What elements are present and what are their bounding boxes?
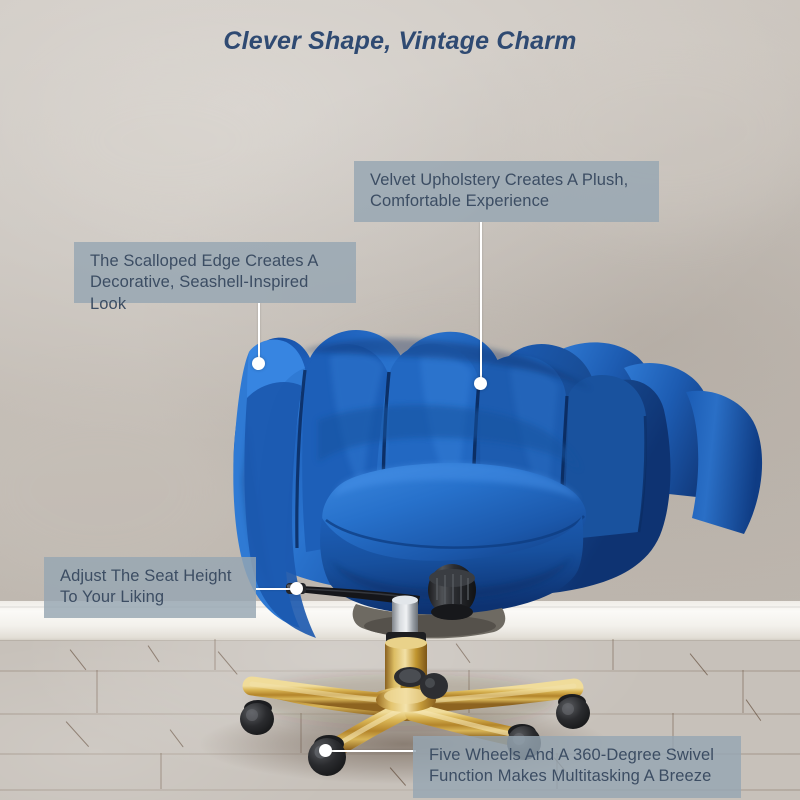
callout-velvet-upholstery: Velvet Upholstery Creates A Plush, Comfo…: [354, 161, 659, 222]
leader-line-upholstery: [480, 222, 482, 385]
leader-dot-scalloped-edge: [252, 357, 265, 370]
leader-dot-seat-height: [290, 582, 303, 595]
leader-dot-five-wheels: [319, 744, 332, 757]
caster-rear-right: [556, 694, 590, 729]
caster-rear-left: [240, 700, 274, 735]
leader-dot-upholstery: [474, 377, 487, 390]
office-chair-illustration: [0, 0, 800, 800]
page-title: Clever Shape, Vintage Charm: [0, 27, 800, 56]
callout-seat-height: Adjust The Seat Height To Your Liking: [44, 557, 256, 618]
leader-line-five-wheels: [326, 750, 416, 752]
callout-scalloped-edge: The Scalloped Edge Creates A Decorative,…: [74, 242, 356, 303]
product-infographic: Clever Shape, Vintage Charm Velvet Uphol…: [0, 0, 800, 800]
leader-line-scalloped-edge: [258, 303, 260, 365]
caster-rear-center: [420, 673, 448, 699]
callout-five-wheels: Five Wheels And A 360-Degree Swivel Func…: [413, 736, 741, 798]
